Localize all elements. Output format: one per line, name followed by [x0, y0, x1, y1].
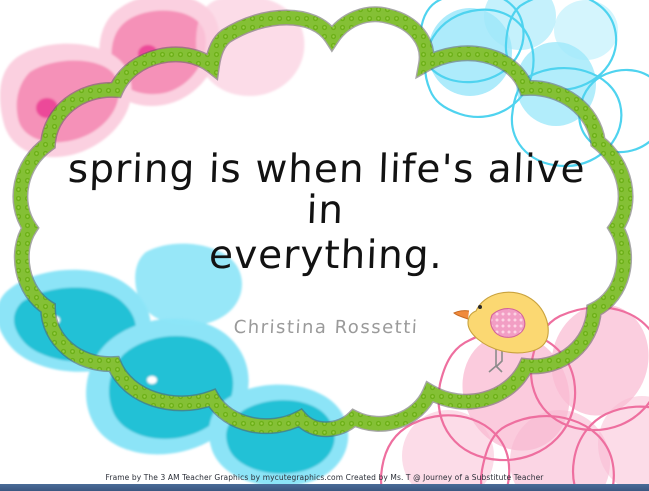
bird-eye: [478, 305, 482, 309]
footer-bar: [0, 484, 649, 491]
bird-icon: [452, 281, 558, 377]
bird-wing: [491, 309, 525, 338]
poster-canvas: spring is when life's alive in everythin…: [0, 0, 649, 491]
bird-beak: [454, 311, 469, 319]
credits-text: Frame by The 3 AM Teacher Graphics by my…: [0, 473, 649, 482]
